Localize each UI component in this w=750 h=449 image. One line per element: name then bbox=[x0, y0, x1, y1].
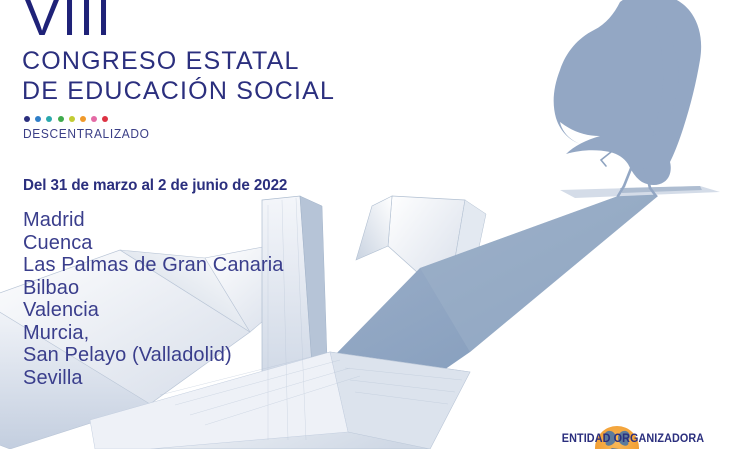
accent-dot-pink bbox=[91, 116, 97, 122]
accent-dot-navy bbox=[24, 116, 30, 122]
accent-dot-orange bbox=[80, 116, 86, 122]
accent-dot-green bbox=[58, 116, 64, 122]
list-item: Las Palmas de Gran Canaria bbox=[23, 254, 335, 277]
list-item: San Pelayo (Valladolid) bbox=[23, 344, 335, 367]
list-item: Bilbao bbox=[23, 277, 335, 300]
heron-silhouette bbox=[554, 0, 701, 196]
accent-dot-red bbox=[102, 116, 108, 122]
list-item: Murcia, bbox=[23, 322, 335, 345]
list-item: Sevilla bbox=[23, 367, 335, 390]
accent-dot-teal bbox=[46, 116, 52, 122]
list-item: Madrid bbox=[23, 209, 335, 232]
accent-dot-lime bbox=[69, 116, 75, 122]
organiser-label: ENTIDAD ORGANIZADORA bbox=[544, 432, 723, 446]
organiser-block: ENTIDAD ORGANIZADORA bbox=[538, 432, 728, 449]
city-list: Madrid Cuenca Las Palmas de Gran Canaria… bbox=[23, 209, 335, 389]
poster-canvas: VIII CONGRESO ESTATAL DE EDUCACIÓN SOCIA… bbox=[0, 0, 750, 449]
congress-title-line-1: CONGRESO ESTATAL bbox=[22, 46, 335, 76]
poster-text-block: VIII CONGRESO ESTATAL DE EDUCACIÓN SOCIA… bbox=[22, 0, 335, 389]
accent-dot-blue bbox=[35, 116, 41, 122]
accent-dots-row bbox=[24, 116, 335, 122]
congress-dates: Del 31 de marzo al 2 de junio de 2022 bbox=[23, 176, 320, 196]
congress-subtitle: DESCENTRALIZADO bbox=[23, 126, 310, 142]
list-item: Cuenca bbox=[23, 232, 335, 255]
congress-title-line-2: DE EDUCACIÓN SOCIAL bbox=[22, 76, 335, 106]
list-item: Valencia bbox=[23, 299, 335, 322]
edition-numeral: VIII bbox=[22, 0, 335, 44]
